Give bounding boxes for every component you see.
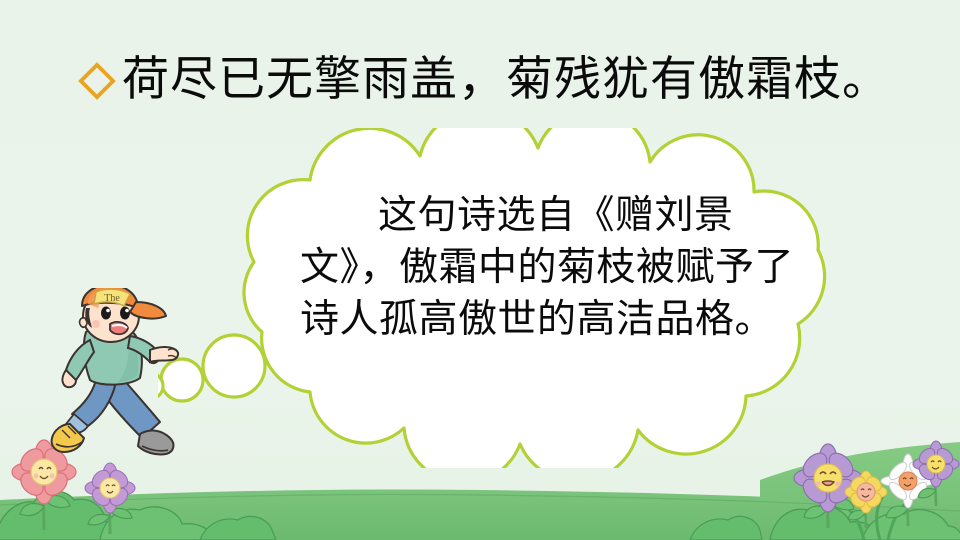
thought-bubble-text: 这句诗选自《赠刘景文》，傲霜中的菊枝被赋予了诗人孤高傲世的高洁品格。 (300, 190, 805, 346)
flower-purple-left (85, 463, 135, 534)
cap-patch-text: The (104, 293, 120, 304)
grass-right (690, 492, 960, 540)
poem-heading: 荷尽已无擎雨盖，菊残犹有傲霜枝。 (78, 57, 890, 104)
running-boy-character: The (44, 288, 184, 466)
thought-tail-bubble-large (203, 335, 265, 397)
poem-heading-text: 荷尽已无擎雨盖，菊残犹有傲霜枝。 (122, 57, 890, 104)
slide-canvas: 荷尽已无擎雨盖，菊残犹有傲霜枝。 这句诗选自《赠刘景文》，傲霜中的菊枝被赋予了诗… (0, 0, 960, 540)
flower-white-right (881, 454, 935, 526)
diamond-bullet-icon (78, 62, 116, 100)
flower-yellow-right (845, 471, 887, 528)
thought-bubble: 这句诗选自《赠刘景文》，傲霜中的菊枝被赋予了诗人孤高傲世的高洁品格。 (158, 128, 878, 468)
flower-violet-top-right (913, 441, 959, 506)
grass-left (0, 491, 276, 540)
